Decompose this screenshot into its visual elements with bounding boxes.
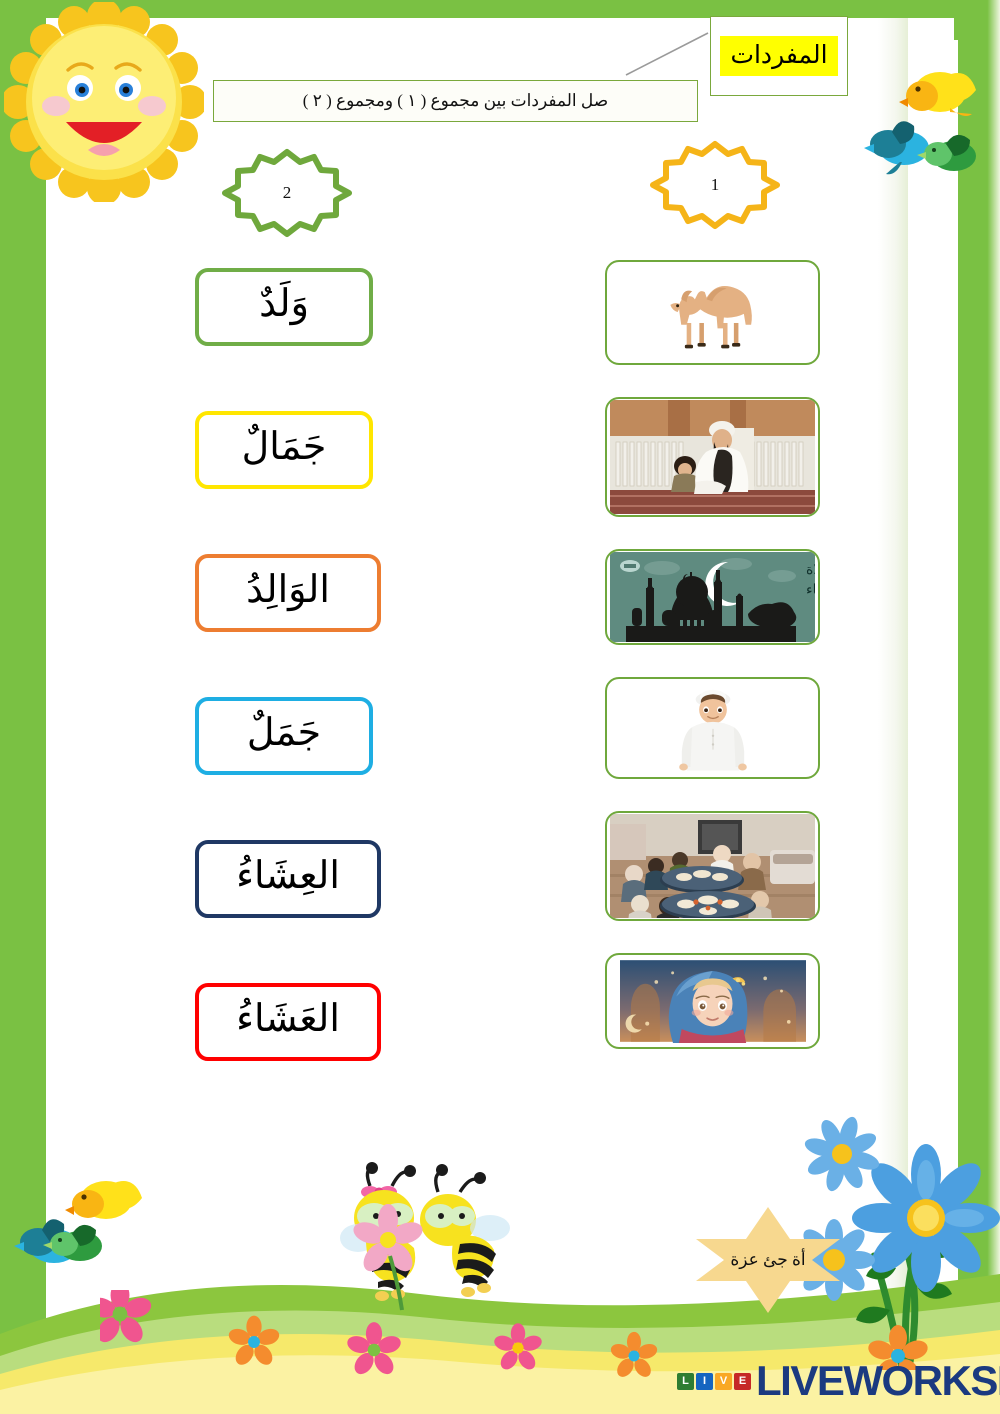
star-note-badge: أة جئ عزة (678, 1205, 858, 1315)
word-card-alwalid-text: الوَالِدُ (246, 571, 330, 615)
word-card-alwalid[interactable]: الوَالِدُ (195, 554, 381, 632)
worksheet-page: المفردات صل المفردات بين مجموع ( ١ ) ومج… (0, 0, 1000, 1414)
bees-icon (330, 1160, 530, 1320)
word-column: وَلَدٌ جَمَالٌ الوَالِدُ جَمَلٌ العِشَاء… (195, 268, 390, 1126)
word-card-walad[interactable]: وَلَدٌ (195, 268, 373, 346)
page-title-box: المفردات (710, 16, 848, 96)
group-badge-2-label: 2 (283, 183, 292, 203)
word-card-jamaal-text: جَمَالٌ (242, 428, 327, 472)
picture-card-camel[interactable] (605, 260, 820, 365)
instruction-text: صل المفردات بين مجموع ( ١ ) ومجموع ( ٢ ) (303, 91, 608, 111)
word-card-jamal[interactable]: جَمَلٌ (195, 697, 373, 775)
instruction-box: صل المفردات بين مجموع ( ١ ) ومجموع ( ٢ ) (213, 80, 698, 122)
mosque-night-icon: صلاة العشاء (610, 554, 815, 640)
birds-bottom-left-icon (8, 1168, 158, 1278)
word-card-walad-text: وَلَدٌ (259, 285, 309, 329)
page-title: المفردات (720, 36, 837, 76)
picture-card-boy[interactable] (605, 677, 820, 779)
picture-card-girl[interactable] (605, 953, 820, 1049)
logo-block-v: V (715, 1373, 732, 1390)
group-badge-1: 1 (650, 140, 780, 230)
group-badge-2: 2 (222, 148, 352, 238)
liveworksheets-logo: L I V E LIVEWORKSHEETS (676, 1358, 1000, 1404)
word-card-alasha-text: العَشَاءُ (236, 1000, 340, 1044)
picture-card-dinner[interactable] (605, 811, 820, 921)
sun-icon (4, 2, 204, 202)
girl-in-hijab-image (610, 958, 815, 1044)
word-card-alisha[interactable]: العِشَاءُ (195, 840, 381, 918)
picture-card-father[interactable] (605, 397, 820, 517)
family-dinner-image (610, 816, 815, 916)
camel-icon (607, 262, 818, 363)
logo-block-i: I (696, 1373, 713, 1390)
mosque-caption-line2: العشاء (806, 583, 815, 598)
star-note-text: أة جئ عزة (730, 1250, 805, 1270)
word-card-alasha[interactable]: العَشَاءُ (195, 983, 381, 1061)
logo-block-e: E (734, 1373, 751, 1390)
logo-block-l: L (677, 1373, 694, 1390)
boy-in-thobe-image (607, 679, 818, 777)
word-card-jamaal[interactable]: جَمَالٌ (195, 411, 373, 489)
word-card-alisha-text: العِشَاءُ (236, 857, 340, 901)
group-badge-1-label: 1 (711, 175, 720, 195)
father-with-child-image (610, 402, 815, 512)
birds-top-right-icon (862, 56, 1000, 184)
liveworksheets-wordmark: LIVEWORKSHEETS (756, 1360, 1000, 1402)
liveworksheets-blocks: L I V E (676, 1373, 752, 1390)
word-card-jamal-text: جَمَلٌ (247, 714, 321, 758)
picture-column: صلاة العشاء (605, 260, 845, 1081)
mosque-caption-line1: صلاة (806, 563, 815, 578)
picture-card-mosque[interactable]: صلاة العشاء (605, 549, 820, 645)
